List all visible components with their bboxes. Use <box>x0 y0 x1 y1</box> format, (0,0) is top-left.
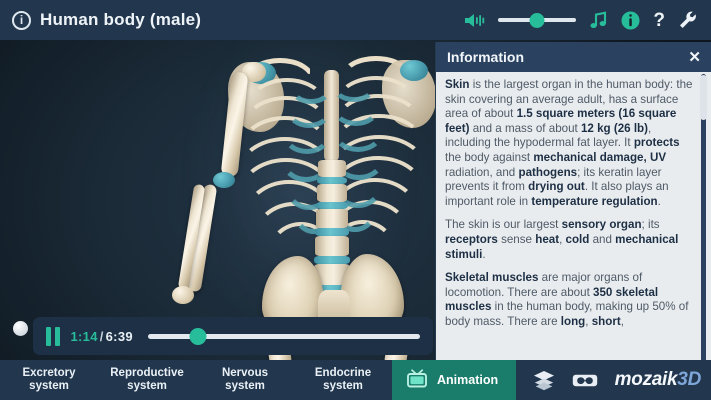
total-time: 6:39 <box>106 329 133 344</box>
tab-animation[interactable]: Animation <box>392 360 516 400</box>
info-filled-icon[interactable] <box>621 11 640 30</box>
page-title: Human body (male) <box>40 10 201 30</box>
information-paragraph: Skeletal muscles are major organs of loc… <box>445 271 695 329</box>
brand-name: mozaik <box>615 369 678 391</box>
information-paragraph: Skin is the largest organ in the human b… <box>445 78 695 209</box>
time-separator: / <box>100 329 104 344</box>
information-panel-body[interactable]: Skin is the largest organ in the human b… <box>436 72 711 360</box>
tab-reproductive-system[interactable]: Reproductive system <box>98 360 196 400</box>
information-paragraph: The skin is our largest sensory organ; i… <box>445 218 695 262</box>
progress-thumb[interactable] <box>190 328 207 345</box>
current-time: 1:14 <box>71 329 98 344</box>
close-icon[interactable]: ✕ <box>688 50 701 65</box>
brand-suffix: 3D <box>677 369 701 391</box>
music-note-icon[interactable] <box>589 11 608 30</box>
animation-player: 1:14/6:39 <box>33 317 433 355</box>
help-icon[interactable]: ? <box>653 11 665 30</box>
time-display: 1:14/6:39 <box>71 329 133 344</box>
information-panel-title: Information <box>447 49 524 65</box>
tab-endocrine-system[interactable]: Endocrine system <box>294 360 392 400</box>
wrench-icon[interactable] <box>678 10 698 30</box>
information-panel-header: Information ✕ <box>436 42 711 72</box>
layers-icon[interactable] <box>532 369 556 391</box>
scrollbar-thumb[interactable] <box>700 75 707 120</box>
progress-slider[interactable] <box>148 327 420 345</box>
information-text: Skin is the largest organ in the human b… <box>445 78 695 330</box>
volume-slider[interactable] <box>498 11 576 29</box>
system-tab-list: Excretory systemReproductive systemNervo… <box>0 360 392 400</box>
bottom-navigation: Excretory systemReproductive systemNervo… <box>0 360 711 400</box>
volume-icon[interactable] <box>463 12 485 29</box>
tab-excretory-system[interactable]: Excretory system <box>0 360 98 400</box>
pause-button[interactable] <box>46 327 60 346</box>
bottom-right-tools <box>516 360 608 400</box>
top-toolbar: i Human body (male) <box>0 0 711 40</box>
brand-logo[interactable]: mozaik3D <box>615 360 711 400</box>
tab-nervous-system[interactable]: Nervous system <box>196 360 294 400</box>
title-group: i Human body (male) <box>0 10 201 30</box>
volume-thumb[interactable] <box>530 13 545 28</box>
tab-animation-label: Animation <box>437 373 498 387</box>
tv-icon <box>406 368 428 393</box>
info-circle-icon[interactable]: i <box>12 11 31 30</box>
mozaik3d-viewer: i Human body (male) <box>0 0 711 400</box>
vr-goggles-icon[interactable] <box>572 372 598 389</box>
information-panel: Information ✕ Skin is the largest organ … <box>435 42 711 360</box>
rotate-handle-dot[interactable] <box>13 321 28 336</box>
top-tool-group: ? <box>463 10 711 30</box>
progress-track <box>148 334 420 339</box>
